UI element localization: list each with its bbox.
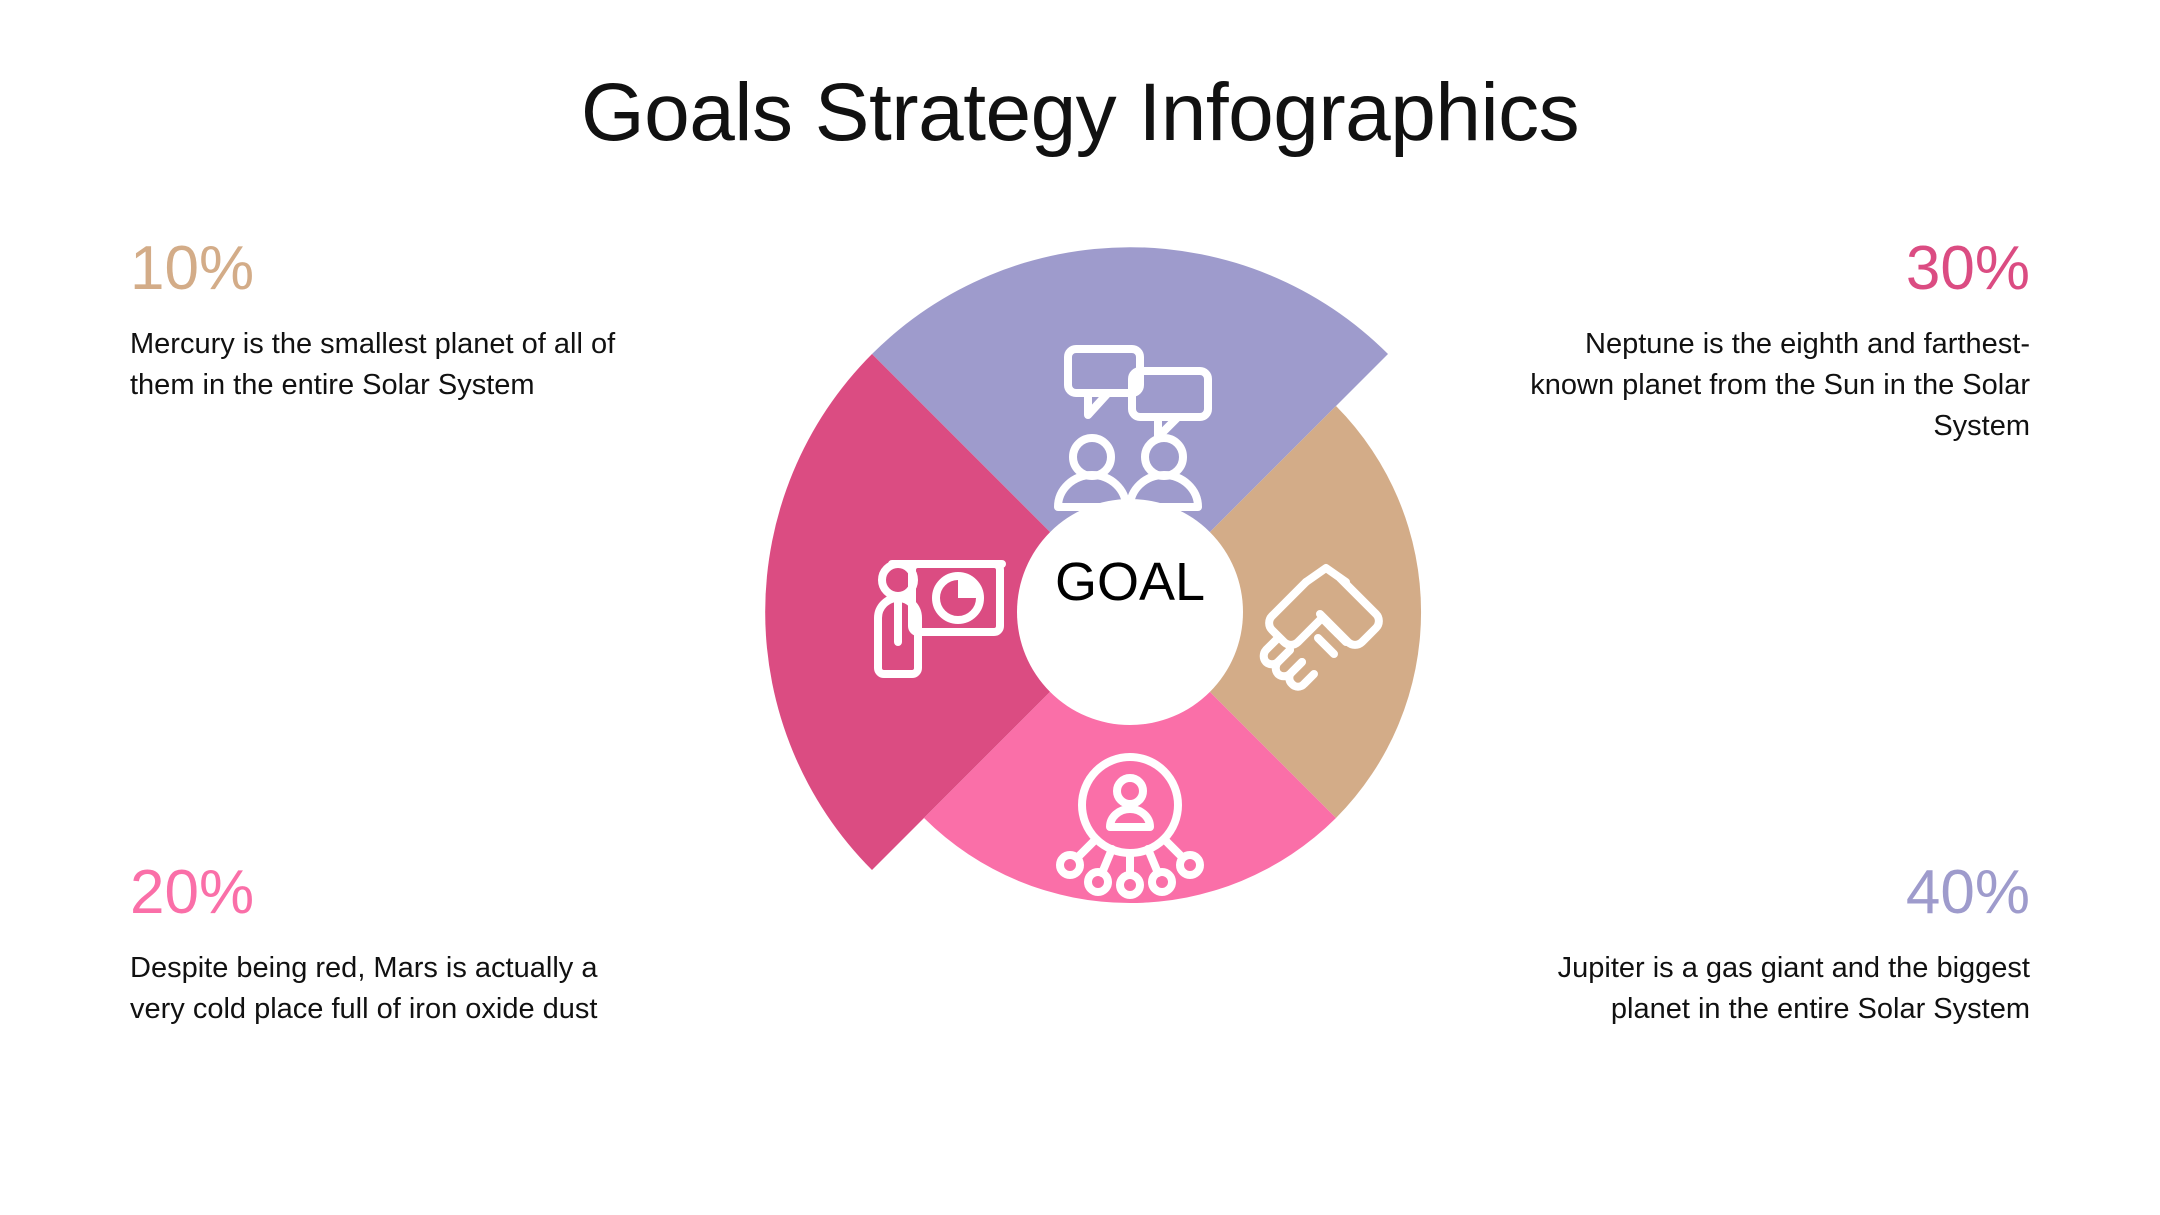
stat-block-bottom-right: 40% Jupiter is a gas giant and the bigge… [1530, 862, 2030, 1030]
goal-center-circle [1017, 499, 1243, 725]
stat-value-bottom-left: 20% [130, 862, 630, 924]
goal-wheel-svg [620, 222, 1540, 1022]
stat-description-bottom-right: Jupiter is a gas giant and the biggest p… [1530, 948, 2030, 1030]
page-title: Goals Strategy Infographics [0, 72, 2160, 154]
stat-value-top-left: 10% [130, 238, 630, 300]
stat-value-bottom-right: 40% [1530, 862, 2030, 924]
stat-description-bottom-left: Despite being red, Mars is actually a ve… [130, 948, 630, 1030]
stat-block-top-left: 10% Mercury is the smallest planet of al… [130, 238, 630, 406]
stat-block-bottom-left: 20% Despite being red, Mars is actually … [130, 862, 630, 1030]
goal-wheel-diagram: GOAL [620, 222, 1540, 1022]
stat-description-top-right: Neptune is the eighth and farthest-known… [1530, 324, 2030, 448]
stat-block-top-right: 30% Neptune is the eighth and farthest-k… [1530, 238, 2030, 448]
stat-description-top-left: Mercury is the smallest planet of all of… [130, 324, 630, 406]
stat-value-top-right: 30% [1530, 238, 2030, 300]
